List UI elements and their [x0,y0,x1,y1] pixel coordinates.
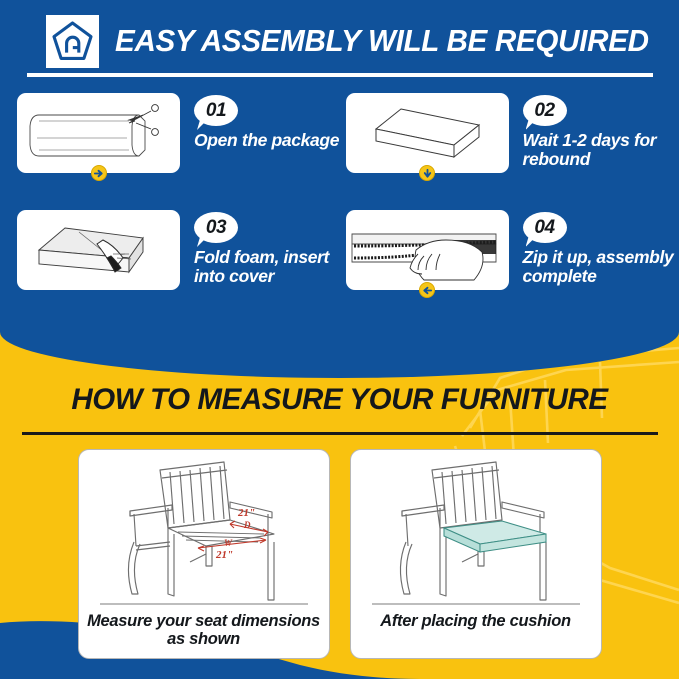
dimension-width-value: 21" [215,549,233,561]
rolled-package-with-scissors-illustration [17,93,180,173]
step-illustration-card-04 [346,210,509,290]
hand-zipping-cushion-illustration [346,210,509,290]
step-row-1: 01 Open the package [0,88,679,173]
measure-card-with-cushion: After placing the cushion [350,449,602,659]
step-illustration-card-03 [17,210,180,290]
brand-logo [46,15,99,68]
step-illustration-card-01 [17,93,180,173]
assembly-section: EASY ASSEMBLY WILL BE REQUIRED [0,0,679,378]
step-number-03: 03 [206,218,226,237]
foam-slab-illustration [346,93,509,173]
infographic-page: EASY ASSEMBLY WILL BE REQUIRED [0,0,679,679]
step-label-01: Open the package [194,131,340,150]
step-text-03: 03 Fold foam, insert into cover [194,210,340,285]
step-item-03: 03 Fold foam, insert into cover [0,205,340,290]
measure-divider [22,432,658,435]
step-number-badge-01: 01 [194,95,238,126]
arrow-right-icon [91,165,107,181]
header: EASY ASSEMBLY WILL BE REQUIRED [0,10,679,72]
arrow-left-icon [419,282,435,298]
dimension-depth-axis: D [243,520,251,530]
measure-card-dimensions: 21" D W 21" Measure your seat dimensions… [78,449,330,659]
chair-with-dimension-markings-illustration: 21" D W 21" [78,454,330,602]
step-illustration-card-02 [346,93,509,173]
card-separator [372,603,580,605]
step-label-02: Wait 1-2 days for rebound [523,131,679,168]
step-number-04: 04 [534,218,554,237]
step-number-01: 01 [206,101,226,120]
home-pentagon-logo-icon [50,19,95,64]
step-text-02: 02 Wait 1-2 days for rebound [523,93,679,168]
dimension-depth-value: 21" [237,507,255,519]
step-number-badge-04: 04 [523,212,567,243]
arrow-down-icon [419,165,435,181]
step-number-badge-03: 03 [194,212,238,243]
chair-with-cushion-illustration [350,454,602,602]
foam-insert-into-cover-illustration [17,210,180,290]
dimension-width-axis: W [224,538,233,548]
step-text-04: 04 Zip it up, assembly complete [523,210,679,285]
step-label-03: Fold foam, insert into cover [194,248,340,285]
measure-card-caption-1: Measure your seat dimensions as shown [79,612,329,649]
step-number-02: 02 [534,101,554,120]
step-item-04: 04 Zip it up, assembly complete [340,205,679,290]
step-row-2: 03 Fold foam, insert into cover [0,205,679,290]
header-divider [27,73,653,77]
measure-card-caption-2: After placing the cushion [372,612,579,630]
step-number-badge-02: 02 [523,95,567,126]
step-label-04: Zip it up, assembly complete [523,248,679,285]
measure-cards: 21" D W 21" Measure your seat dimensions… [0,449,679,659]
measure-section-title: HOW TO MEASURE YOUR FURNITURE [0,383,679,417]
step-item-02: 02 Wait 1-2 days for rebound [340,88,679,173]
card-separator [100,603,308,605]
page-title: EASY ASSEMBLY WILL BE REQUIRED [115,24,649,59]
step-item-01: 01 Open the package [0,88,340,173]
step-text-01: 01 Open the package [194,93,340,150]
assembly-steps: 01 Open the package [0,88,679,290]
